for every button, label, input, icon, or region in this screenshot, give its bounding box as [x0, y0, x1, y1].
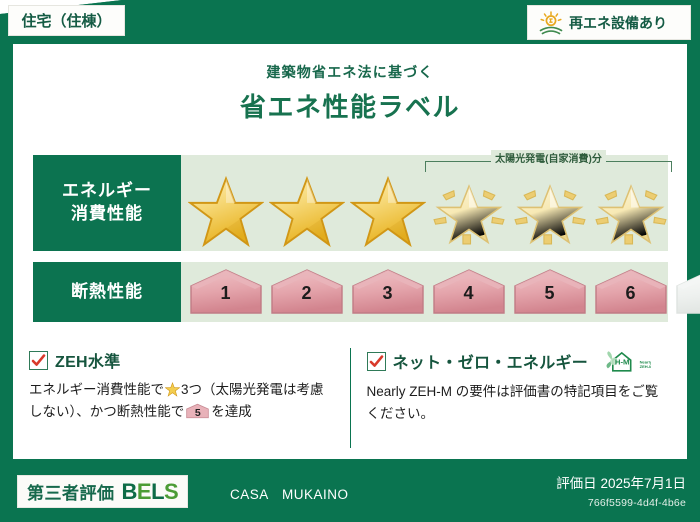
third-party-eval-label: 第三者評価 — [27, 479, 115, 504]
insulation-badge-icon: 5 — [186, 403, 209, 419]
bels-certification-box: 第三者評価 BELS — [17, 475, 188, 508]
insulation-row-label: 断熱性能 — [71, 281, 143, 304]
title-block: 建築物省エネ法に基づく 省エネ性能ラベル — [0, 62, 700, 124]
energy-row-label-line2: 消費性能 — [71, 203, 143, 226]
criteria-zeh-standard: ZEH水準 エネルギー消費性能で3つ（太陽光発電は考慮しない）、かつ断熱性能で5… — [13, 348, 350, 448]
building-type-label: 住宅（住棟） — [21, 10, 111, 31]
criteria-nze-header: ネット・ゼロ・エネルギー H-M Nearly ZEH-M — [367, 348, 672, 374]
nearly-zeh-m-logo: H-M Nearly ZEH-M — [599, 348, 651, 374]
criteria-nze-title: ネット・ゼロ・エネルギー — [393, 349, 589, 373]
criteria-zeh-text: エネルギー消費性能で3つ（太陽光発電は考慮しない）、かつ断熱性能で5を達成 — [29, 379, 334, 423]
svg-text:ZEH-M: ZEH-M — [640, 364, 651, 369]
star-3 — [347, 175, 428, 249]
star-rating-group — [181, 175, 668, 249]
star-1 — [185, 175, 266, 249]
property-name: CASA MUKAINO — [230, 483, 349, 503]
renewable-badge-label: 再エネ設備あり — [569, 13, 667, 33]
insulation-level-4: 4 — [428, 268, 509, 316]
star-6-solar — [590, 175, 671, 249]
insulation-badge-number: 5 — [186, 405, 209, 422]
insulation-level-3: 3 — [347, 268, 428, 316]
energy-row-body: 太陽光発電(自家消費)分 — [181, 155, 668, 251]
insulation-performance-row: 断熱性能 1 2 — [33, 262, 668, 322]
criteria-zeh-text-part3: を達成 — [211, 404, 252, 419]
criteria-zeh-text-part1: エネルギー消費性能で — [29, 382, 164, 397]
solar-annotation: 太陽光発電(自家消費)分 — [425, 143, 672, 172]
building-type-tab: 住宅（住棟） — [8, 5, 125, 36]
renewable-equipment-badge: 再エネ設備あり — [527, 5, 691, 40]
criteria-zeh-header: ZEH水準 — [29, 348, 334, 372]
footer: 第三者評価 BELS CASA MUKAINO 評価日 2025年7月1日 76… — [0, 460, 700, 522]
title-main: 省エネ性能ラベル — [0, 87, 700, 124]
insulation-row-body: 1 2 3 4 — [181, 262, 700, 322]
title-subtitle: 建築物省エネ法に基づく — [0, 62, 700, 82]
criteria-nze-text: Nearly ZEH-M の要件は評価書の特記項目をご覧ください。 — [367, 381, 672, 425]
insulation-level-7: 7 — [671, 268, 700, 316]
evaluation-date: 評価日 2025年7月1日 — [556, 472, 686, 492]
insulation-level-5: 5 — [509, 268, 590, 316]
gold-star-icon — [165, 382, 180, 397]
solar-sun-icon — [538, 11, 564, 35]
star-2 — [266, 175, 347, 249]
star-4-solar — [428, 175, 509, 249]
criteria-zeh-title: ZEH水準 — [55, 348, 121, 372]
energy-row-label-line1: エネルギー — [62, 180, 152, 203]
star-5-solar — [509, 175, 590, 249]
svg-text:H-M: H-M — [615, 358, 630, 367]
energy-row-header: エネルギー 消費性能 — [33, 155, 181, 251]
solar-annotation-label: 太陽光発電(自家消費)分 — [491, 150, 606, 165]
insulation-level-2: 2 — [266, 268, 347, 316]
checkmark-icon — [29, 351, 48, 370]
insulation-row-header: 断熱性能 — [33, 262, 181, 322]
energy-performance-row: エネルギー 消費性能 太陽光発電(自家消費)分 — [33, 155, 668, 251]
checkmark-icon — [367, 352, 386, 371]
bels-logo: BELS — [122, 479, 179, 505]
criteria-net-zero-energy: ネット・ゼロ・エネルギー H-M Nearly ZEH-M Nearly ZEH… — [350, 348, 688, 448]
criteria-section: ZEH水準 エネルギー消費性能で3つ（太陽光発電は考慮しない）、かつ断熱性能で5… — [13, 348, 687, 448]
insulation-level-6: 6 — [590, 268, 671, 316]
insulation-level-1: 1 — [185, 268, 266, 316]
evaluation-id: 766f5599-4d4f-4b6e — [588, 497, 686, 509]
